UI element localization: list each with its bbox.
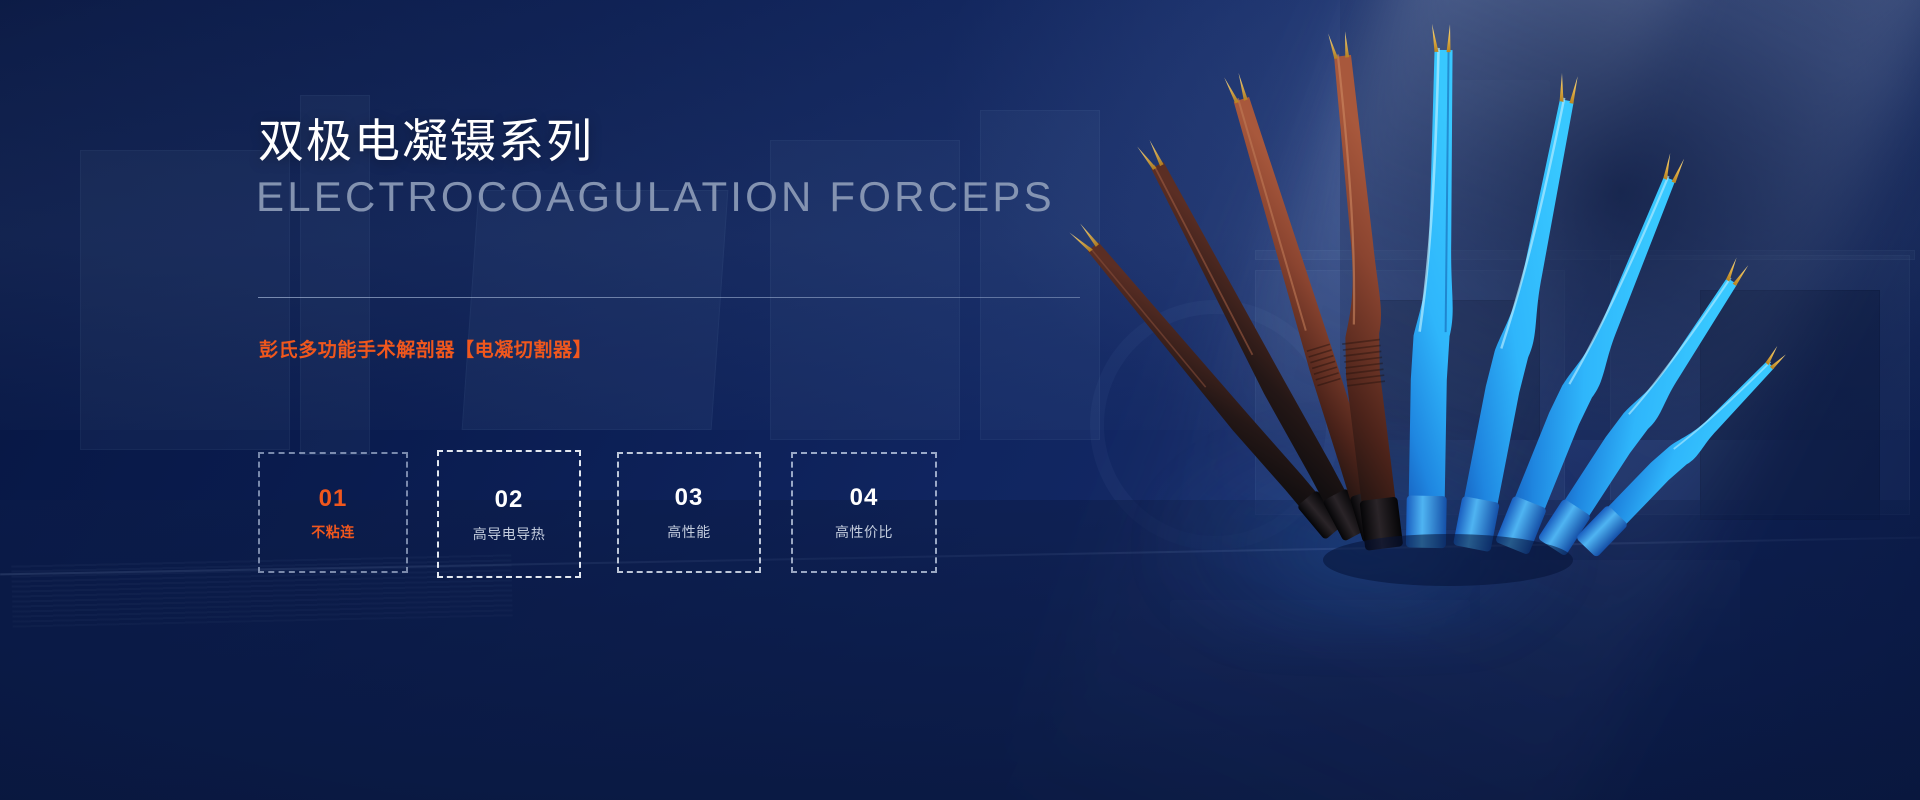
feature-label: 高性能 bbox=[667, 525, 711, 539]
page-title-cn: 双极电凝镊系列 bbox=[258, 115, 594, 168]
product-subtitle: 彭氏多功能手术解剖器【电凝切割器】 bbox=[259, 335, 592, 362]
feature-item-02[interactable]: 02 高导电导热 bbox=[437, 450, 581, 578]
feature-number: 01 bbox=[319, 487, 348, 511]
title-divider bbox=[258, 297, 1080, 298]
feature-item-03[interactable]: 03 高性能 bbox=[617, 452, 761, 573]
page-title-en: ELECTROCOAGULATION FORCEPS bbox=[256, 172, 1055, 222]
banner-content: 双极电凝镊系列 ELECTROCOAGULATION FORCEPS 彭氏多功能… bbox=[258, 0, 1158, 800]
product-banner: 双极电凝镊系列 ELECTROCOAGULATION FORCEPS 彭氏多功能… bbox=[0, 0, 1920, 800]
feature-number: 03 bbox=[675, 486, 704, 510]
feature-item-01[interactable]: 01 不粘连 bbox=[258, 452, 408, 573]
feature-list: 01 不粘连 02 高导电导热 03 高性能 04 高性价比 bbox=[258, 452, 937, 578]
forceps-blue-1 bbox=[1406, 24, 1458, 549]
forceps-blue-2 bbox=[1453, 70, 1585, 553]
feature-label: 高性价比 bbox=[835, 525, 893, 539]
feature-item-04[interactable]: 04 高性价比 bbox=[791, 452, 937, 573]
feature-label: 高导电导热 bbox=[473, 527, 546, 541]
feature-label: 不粘连 bbox=[311, 525, 355, 539]
feature-number: 02 bbox=[495, 488, 524, 512]
feature-number: 04 bbox=[850, 486, 879, 510]
